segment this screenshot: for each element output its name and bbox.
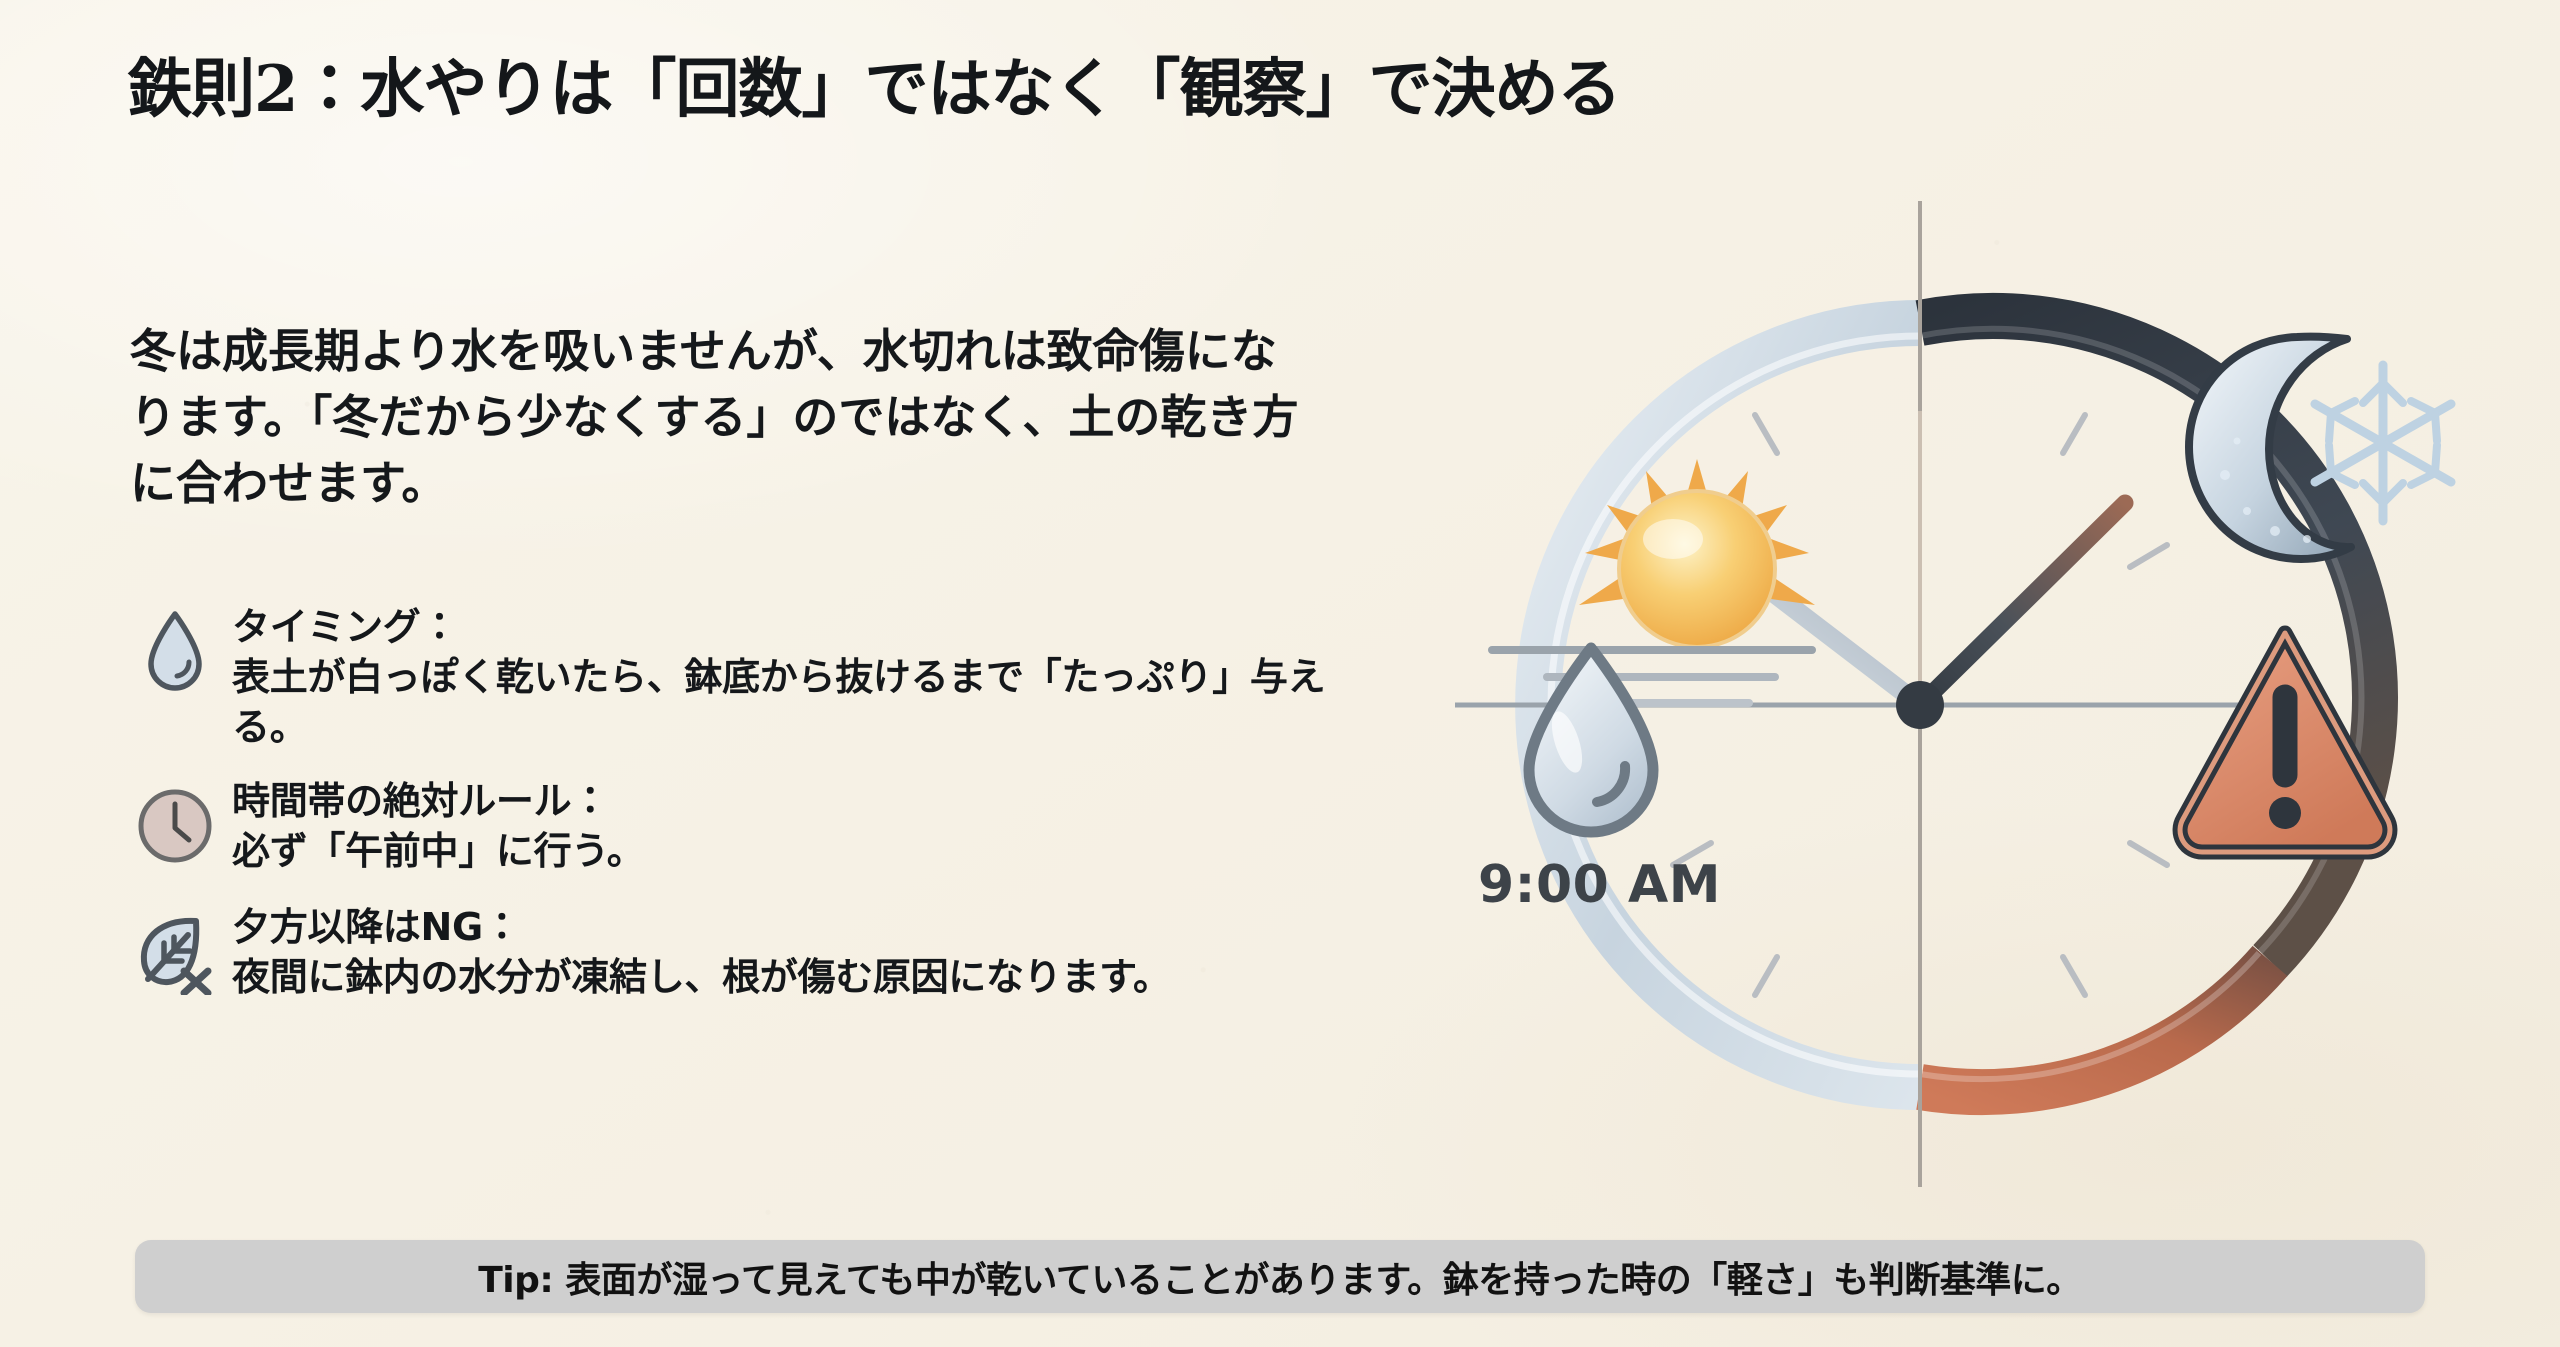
list-item-body: 必ず「午前中」に行う。: [232, 826, 644, 876]
clock-minute-hand: [1920, 503, 2125, 705]
list-item-text: タイミング： 表土が白っぽく乾いたら、鉢底から抜けるまで「たっぷり」与える。: [232, 600, 1332, 752]
list-item-text: 夕方以降はNG： 夜間に鉢内の水分が凍結し、根が傷む原因になります。: [232, 900, 1171, 1002]
bullet-list: タイミング： 表土が白っぽく乾いたら、鉢底から抜けるまで「たっぷり」与える。 時…: [132, 600, 1332, 1026]
list-item-heading: 夕方以降はNG：: [232, 904, 1171, 952]
tip-bar: Tip: 表面が湿って見えても中が乾いていることがあります。鉢を持った時の「軽さ…: [135, 1240, 2425, 1313]
clock-center-pin: [1896, 681, 1944, 729]
clock-icon: [132, 774, 218, 878]
lead-paragraph: 冬は成長期より水を吸いませんが、水切れは致命傷になります。「冬だから少なくする」…: [130, 318, 1310, 517]
list-item: 夕方以降はNG： 夜間に鉢内の水分が凍結し、根が傷む原因になります。: [132, 900, 1332, 1004]
watering-time-clock-illustration: [1395, 175, 2480, 1215]
slide-title: 鉄則2：水やりは「回数」ではなく「観察」で決める: [128, 38, 1621, 130]
list-item: 時間帯の絶対ルール： 必ず「午前中」に行う。: [132, 774, 1332, 878]
list-item-heading: 時間帯の絶対ルール：: [232, 778, 644, 826]
water-drop-icon: [132, 600, 218, 704]
clock-time-label: 9:00 AM: [1478, 855, 1721, 915]
list-item-text: 時間帯の絶対ルール： 必ず「午前中」に行う。: [232, 774, 644, 876]
leaf-no-icon: [132, 900, 218, 1004]
list-item-heading: タイミング：: [232, 604, 1332, 652]
tip-text: Tip: 表面が湿って見えても中が乾いていることがあります。鉢を持った時の「軽さ…: [478, 1251, 2082, 1303]
list-item: タイミング： 表土が白っぽく乾いたら、鉢底から抜けるまで「たっぷり」与える。: [132, 600, 1332, 752]
list-item-body: 表土が白っぽく乾いたら、鉢底から抜けるまで「たっぷり」与える。: [232, 652, 1332, 752]
list-item-body: 夜間に鉢内の水分が凍結し、根が傷む原因になります。: [232, 952, 1171, 1002]
